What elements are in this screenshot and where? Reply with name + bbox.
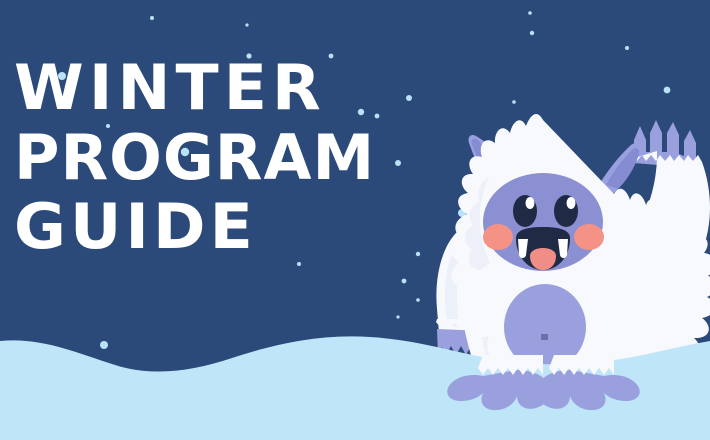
snowflake-dot xyxy=(246,53,251,58)
snowflake-dot xyxy=(664,87,671,94)
left-eye-highlight-icon xyxy=(526,197,535,209)
snowflake-dot xyxy=(358,109,364,115)
winter-program-guide-poster: WINTER PROGRAM GUIDE xyxy=(0,0,710,440)
yeti-navel xyxy=(541,334,548,340)
yeti-left-cheek xyxy=(483,224,513,250)
snowflake-dot xyxy=(416,298,420,302)
snowflake-dot xyxy=(395,160,401,166)
snowflake-dot xyxy=(625,46,629,50)
snowflake-dot xyxy=(297,262,301,266)
yeti-right-cheek xyxy=(574,224,604,250)
snowflake-dot xyxy=(512,100,516,104)
snowflake-dot xyxy=(396,315,399,318)
snowflake-dot xyxy=(245,23,248,26)
snowflake-dot xyxy=(329,54,334,59)
snowflake-dot xyxy=(402,279,407,284)
snowflake-dot xyxy=(58,72,66,80)
scene-artwork xyxy=(0,0,710,440)
snowflake-dot xyxy=(150,16,154,20)
snowflake-dot xyxy=(375,114,380,119)
snowflake-dot xyxy=(406,95,412,101)
snowflake-dot xyxy=(528,11,532,15)
snowflake-dot xyxy=(530,31,534,35)
snowflake-dot xyxy=(100,341,108,349)
snowflake-dot xyxy=(416,252,420,256)
snowflake-dot xyxy=(181,148,189,156)
snowflake-dot xyxy=(106,124,110,128)
right-eye-highlight-icon xyxy=(567,197,576,209)
